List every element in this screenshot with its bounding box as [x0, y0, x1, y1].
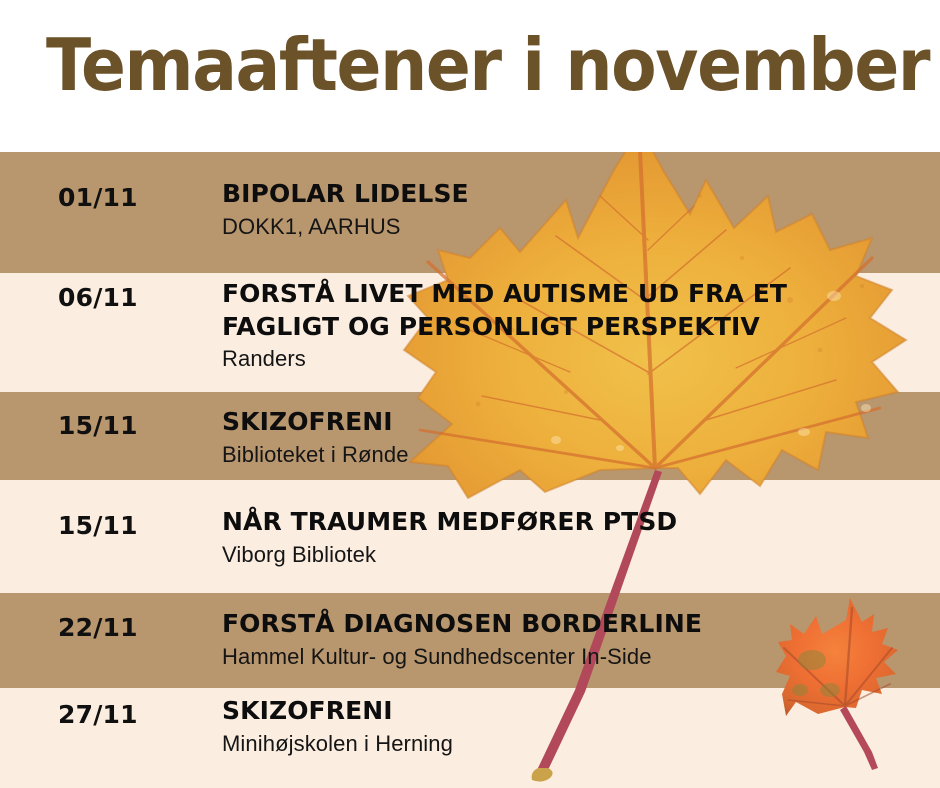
event-date: 15/11: [58, 411, 138, 440]
event-venue: Biblioteket i Rønde: [222, 441, 922, 469]
event-date: 15/11: [58, 511, 138, 540]
event-date: 22/11: [58, 613, 138, 642]
event-venue: Hammel Kultur- og Sundhedscenter In-Side: [222, 643, 922, 671]
event-body: SKIZOFRENIMinihøjskolen i Herning: [222, 695, 922, 757]
event-date: 01/11: [58, 183, 138, 212]
event-body: FORSTÅ DIAGNOSEN BORDERLINEHammel Kultur…: [222, 608, 922, 670]
event-title: BIPOLAR LIDELSE: [222, 178, 922, 211]
event-title: FORSTÅ LIVET MED AUTISME UD FRA ET FAGLI…: [222, 278, 922, 343]
event-body: FORSTÅ LIVET MED AUTISME UD FRA ET FAGLI…: [222, 278, 922, 373]
event-title: SKIZOFRENI: [222, 406, 922, 439]
event-body: BIPOLAR LIDELSEDOKK1, AARHUS: [222, 178, 922, 240]
event-venue: DOKK1, AARHUS: [222, 213, 922, 241]
event-venue: Randers: [222, 345, 922, 373]
page-title: Temaaftener i november: [46, 24, 929, 107]
event-title: SKIZOFRENI: [222, 695, 922, 728]
event-body: NÅR TRAUMER MEDFØRER PTSDViborg Bibliote…: [222, 506, 922, 568]
event-venue: Minihøjskolen i Herning: [222, 730, 922, 758]
event-title: FORSTÅ DIAGNOSEN BORDERLINE: [222, 608, 922, 641]
poster-canvas: Temaaftener i november 01/11BIPOLAR LIDE…: [0, 0, 940, 788]
event-title: NÅR TRAUMER MEDFØRER PTSD: [222, 506, 922, 539]
event-date: 27/11: [58, 700, 138, 729]
event-body: SKIZOFRENIBiblioteket i Rønde: [222, 406, 922, 468]
event-date: 06/11: [58, 283, 138, 312]
header-area: Temaaftener i november: [0, 0, 940, 152]
event-venue: Viborg Bibliotek: [222, 541, 922, 569]
